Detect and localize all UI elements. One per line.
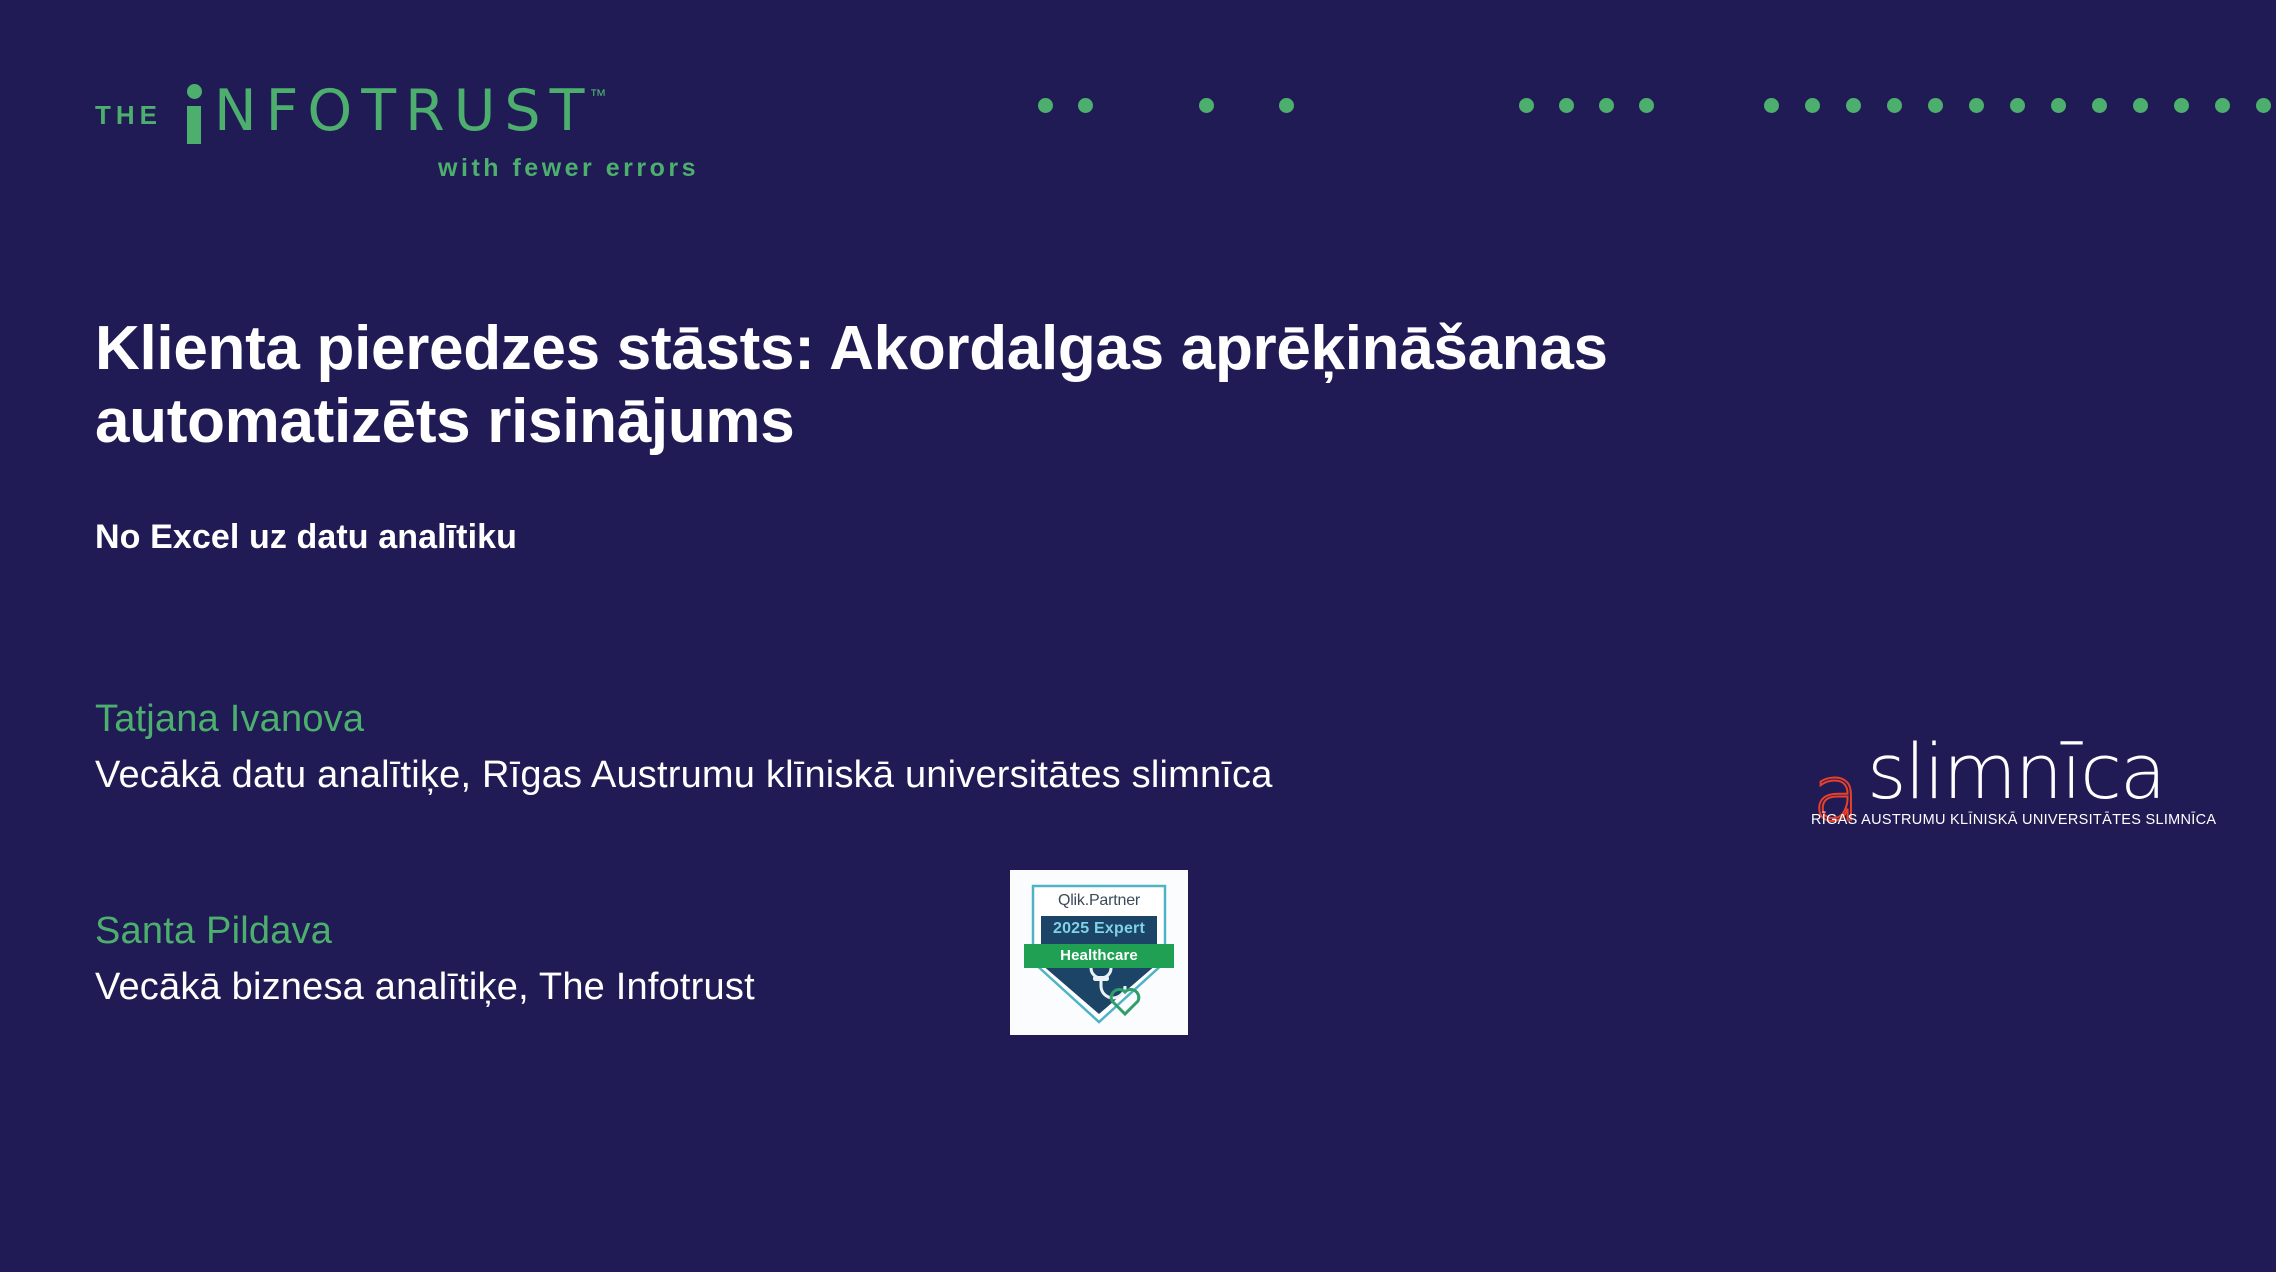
page-subtitle: No Excel uz datu analītiku: [95, 518, 517, 557]
speaker-2-name: Santa Pildava: [95, 908, 755, 956]
decorative-dot: [2174, 98, 2189, 113]
hospital-logo-word: slimnīca: [1867, 734, 2165, 810]
decorative-dot: [1846, 98, 1861, 113]
decorative-dot: [2051, 98, 2066, 113]
decorative-dot: [1199, 98, 1214, 113]
decorative-dot: [1764, 98, 1779, 113]
decorative-dot: [1928, 98, 1943, 113]
decorative-dot: [1559, 98, 1574, 113]
decorative-dot: [2133, 98, 2148, 113]
decorative-dot: [1038, 98, 1053, 113]
decorative-dot: [2256, 98, 2271, 113]
qlik-partner-badge: Qlik.Partner 2025 Expert Healthcare: [1010, 870, 1188, 1035]
slide-canvas: THE NFOTRUST ™ with fewer errors Klienta…: [0, 0, 2276, 1272]
decorative-dot-pattern: [0, 98, 2276, 120]
logo-i-dot-icon: [187, 84, 202, 99]
decorative-dot: [1279, 98, 1294, 113]
decorative-dot: [1639, 98, 1654, 113]
decorative-dot: [2215, 98, 2230, 113]
hospital-logo-wordmark: a slimnīca: [1805, 738, 2175, 808]
decorative-dot: [1519, 98, 1534, 113]
qlik-badge-inner: Qlik.Partner 2025 Expert Healthcare: [1010, 870, 1188, 1035]
speaker-2-role: Vecākā biznesa analītiķe, The Infotrust: [95, 964, 755, 1012]
speaker-1-name: Tatjana Ivanova: [95, 696, 1273, 744]
decorative-dot: [1887, 98, 1902, 113]
speaker-block-1: Tatjana Ivanova Vecākā datu analītiķe, R…: [95, 696, 1273, 799]
speaker-1-role: Vecākā datu analītiķe, Rīgas Austrumu kl…: [95, 752, 1273, 800]
logo-tagline: with fewer errors: [95, 154, 705, 183]
decorative-dot: [1599, 98, 1614, 113]
decorative-dot: [2092, 98, 2107, 113]
decorative-dot: [1969, 98, 1984, 113]
qlik-badge-category: Healthcare: [1024, 947, 1174, 964]
qlik-badge-year-level: 2025 Expert: [1010, 920, 1188, 938]
hospital-logo-tagline: RĪGAS AUSTRUMU KLĪNISKĀ UNIVERSITĀTES SL…: [1811, 812, 2175, 828]
infotrust-logo: THE NFOTRUST ™ with fewer errors: [95, 78, 705, 188]
page-title-line2: automatizēts risinājums: [95, 385, 1995, 458]
speaker-block-2: Santa Pildava Vecākā biznesa analītiķe, …: [95, 908, 755, 1011]
decorative-dot: [1078, 98, 1093, 113]
qlik-partner-label: Qlik.Partner: [1010, 892, 1188, 910]
page-title-line1: Klienta pieredzes stāsts: Akordalgas apr…: [95, 312, 1995, 385]
hospital-logo: a slimnīca RĪGAS AUSTRUMU KLĪNISKĀ UNIVE…: [1805, 738, 2175, 834]
decorative-dot: [2010, 98, 2025, 113]
decorative-dot: [1805, 98, 1820, 113]
page-title: Klienta pieredzes stāsts: Akordalgas apr…: [95, 312, 1995, 458]
